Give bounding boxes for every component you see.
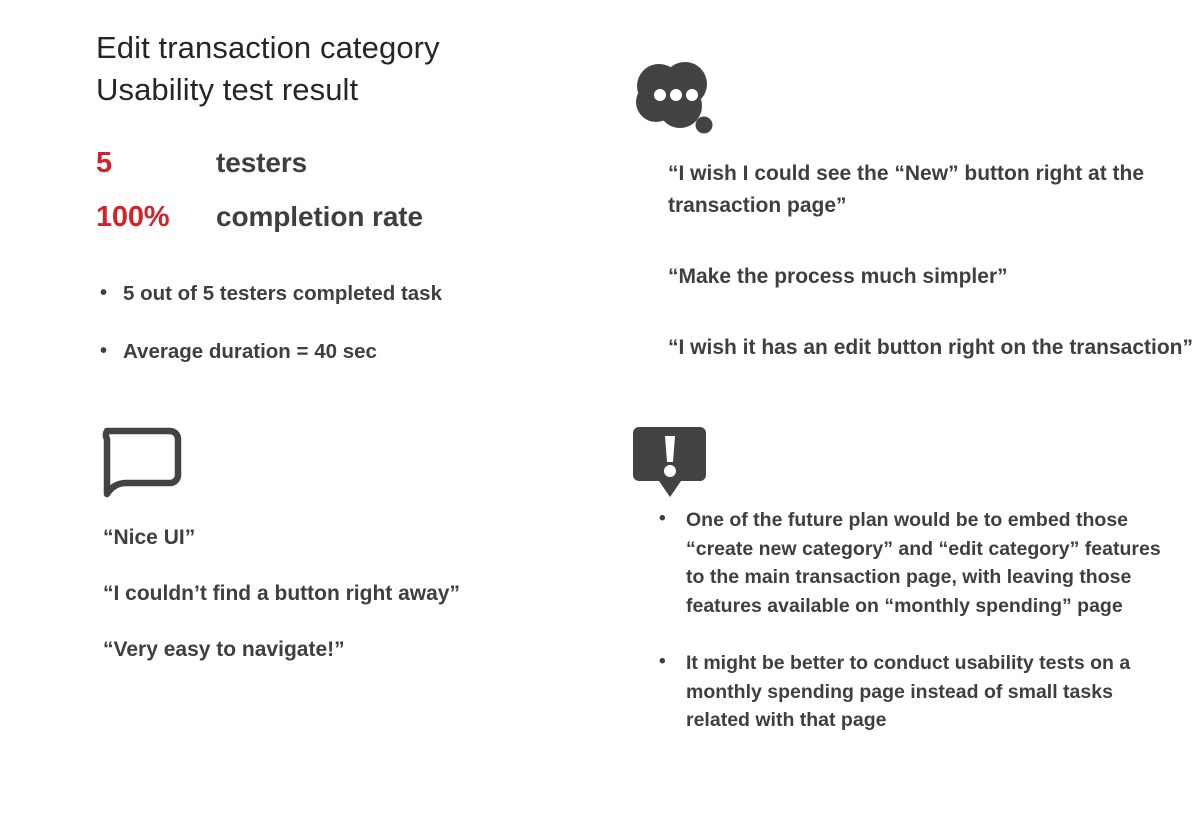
quote-item: “I wish it has an edit button right on t… <box>668 332 1194 364</box>
list-item: It might be better to conduct usability … <box>650 649 1170 735</box>
thought-bubble-icon <box>632 62 718 134</box>
quotes-right-group: “I wish I could see the “New” button rig… <box>668 158 1194 403</box>
future-plans-list: One of the future plan would be to embed… <box>650 506 1170 764</box>
stat-testers: 5 testers <box>96 147 616 180</box>
quotes-left-group: “Nice UI” “I couldn’t find a button righ… <box>103 523 573 691</box>
stats-group: 5 testers 100% completion rate <box>96 147 616 255</box>
quote-item: “Nice UI” <box>103 523 573 552</box>
list-item: One of the future plan would be to embed… <box>650 506 1170 620</box>
quote-item: “Very easy to navigate!” <box>103 635 573 664</box>
list-item: 5 out of 5 testers completed task <box>96 280 636 308</box>
stat-completion-value: 100% <box>96 201 216 234</box>
slide-root: Edit transaction category Usability test… <box>0 0 1194 834</box>
stat-testers-value: 5 <box>96 147 216 180</box>
facts-list: 5 out of 5 testers completed task Averag… <box>96 280 636 396</box>
stat-testers-label: testers <box>216 147 307 179</box>
page-title: Edit transaction category Usability test… <box>96 27 616 111</box>
speech-bubble-icon <box>96 425 188 499</box>
exclamation-callout-icon <box>632 424 710 498</box>
quote-item: “I wish I could see the “New” button rig… <box>668 158 1194 222</box>
list-item: Average duration = 40 sec <box>96 338 636 366</box>
stat-completion-label: completion rate <box>216 201 423 233</box>
page-title-line-2: Usability test result <box>96 69 616 111</box>
quote-item: “I couldn’t find a button right away” <box>103 579 573 608</box>
page-title-line-1: Edit transaction category <box>96 27 616 69</box>
stat-completion: 100% completion rate <box>96 201 616 234</box>
quote-item: “Make the process much simpler” <box>668 261 1194 293</box>
